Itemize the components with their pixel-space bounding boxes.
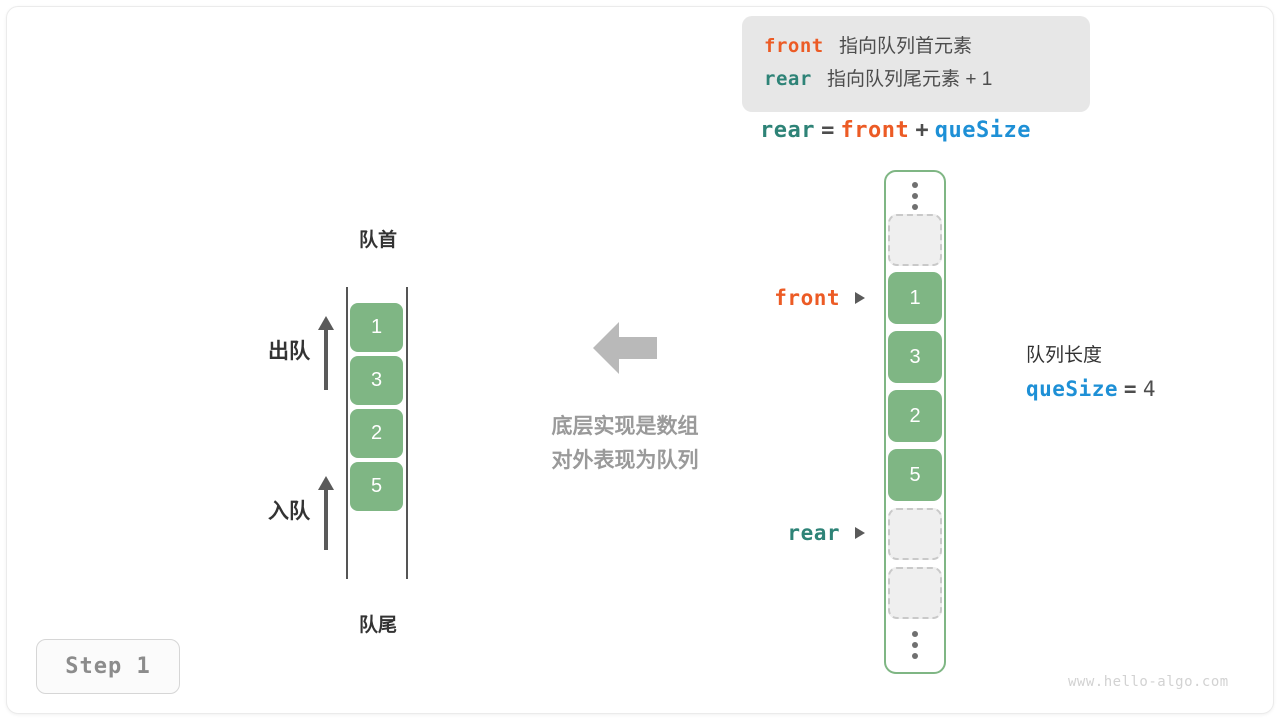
array-cell: 5 (888, 449, 942, 501)
queue-size-note: 队列长度 queSize = 4 (1026, 340, 1156, 407)
middle-caption: 底层实现是数组 对外表现为队列 (510, 410, 740, 478)
legend-line-rear: rear 指向队列尾元素 + 1 (764, 63, 1070, 96)
legend-front-code: front (764, 35, 824, 57)
dequeue-label: 出队 (248, 335, 310, 365)
queue-cell: 5 (350, 462, 403, 511)
formula-front: front (840, 118, 909, 143)
vertical-ellipsis-icon (884, 631, 946, 659)
vertical-ellipsis-icon (884, 182, 946, 210)
dequeue-arrow-icon (318, 316, 334, 390)
queue-cell: 2 (350, 409, 403, 458)
middle-caption-line1: 底层实现是数组 (510, 410, 740, 444)
array-cell: 1 (888, 272, 942, 324)
queue-size-title: 队列长度 (1026, 340, 1156, 372)
legend-rear-code: rear (764, 68, 812, 90)
legend-line-front: front 指向队列首元素 (764, 30, 1070, 63)
pointer-legend-box: front 指向队列首元素 rear 指向队列尾元素 + 1 (742, 16, 1090, 112)
formula-rear: rear (760, 118, 815, 143)
formula-quesize: queSize (935, 118, 1031, 143)
queue-rail-right (406, 287, 408, 579)
left-arrow-icon (593, 320, 657, 376)
front-pointer-arrowhead-icon (855, 292, 865, 304)
formula-equals: = (821, 118, 834, 143)
queue-size-value-row: queSize = 4 (1026, 372, 1156, 407)
rear-formula: rear = front + queSize (760, 117, 1031, 143)
quesize-number: 4 (1143, 377, 1156, 401)
legend-front-text: 指向队列首元素 (839, 36, 972, 57)
queue-rail-left (346, 287, 348, 579)
enqueue-label: 入队 (248, 495, 310, 525)
diagram-canvas: front 指向队列首元素 rear 指向队列尾元素 + 1 rear = fr… (0, 0, 1280, 720)
legend-rear-text: 指向队列尾元素 + 1 (827, 69, 992, 90)
step-badge: Step 1 (36, 639, 180, 694)
formula-plus: + (915, 118, 928, 143)
array-cell: 3 (888, 331, 942, 383)
quesize-equals: = (1124, 377, 1137, 401)
queue-head-label: 队首 (347, 225, 409, 252)
middle-caption-line2: 对外表现为队列 (510, 444, 740, 478)
queue-cell: 3 (350, 356, 403, 405)
array-cell: 2 (888, 390, 942, 442)
array-cell (888, 214, 942, 266)
rear-pointer-arrowhead-icon (855, 527, 865, 539)
enqueue-arrow-icon (318, 476, 334, 550)
watermark: www.hello-algo.com (1068, 674, 1229, 690)
quesize-var: queSize (1026, 377, 1118, 401)
rear-pointer-label: rear (700, 521, 840, 545)
queue-cell: 1 (350, 303, 403, 352)
array-cell (888, 567, 942, 619)
queue-tail-label: 队尾 (347, 610, 409, 637)
array-cell (888, 508, 942, 560)
front-pointer-label: front (700, 286, 840, 310)
